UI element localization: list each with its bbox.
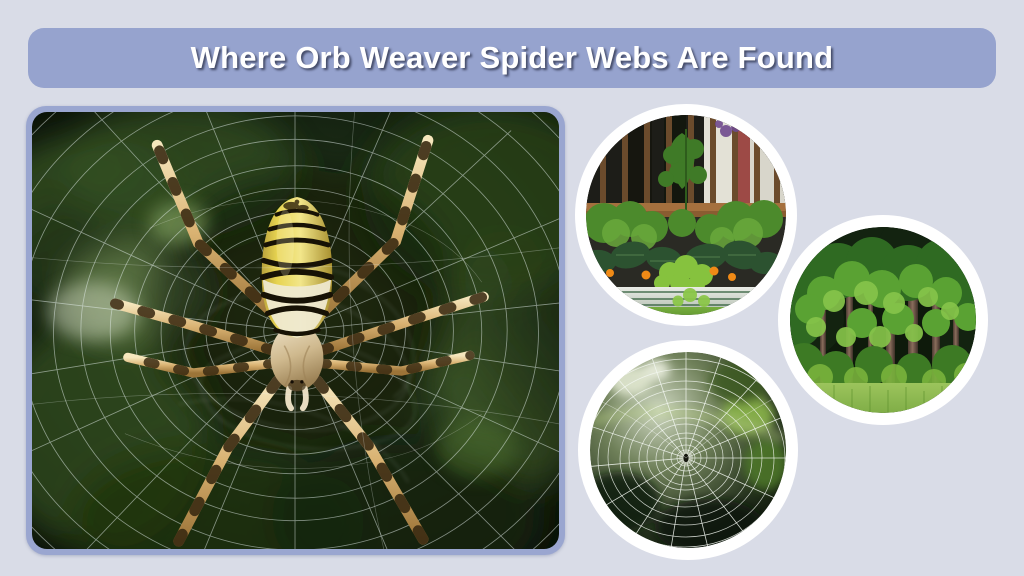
forest-habitat-photo: [778, 215, 988, 425]
orb-web-closeup-photo: [578, 340, 798, 560]
habitat-thumbnail-cluster: [575, 95, 1005, 575]
garden-habitat-illustration: [586, 115, 786, 315]
page-title: Where Orb Weaver Spider Webs Are Found: [191, 40, 834, 76]
garden-habitat-photo: [575, 104, 797, 326]
orb-weaver-spider-on-web-photo: [32, 112, 559, 549]
forest-habitat-illustration: [790, 227, 976, 413]
hero-photo-frame: [26, 106, 565, 555]
orb-web-closeup-illustration: [590, 352, 786, 548]
title-banner: Where Orb Weaver Spider Webs Are Found: [28, 28, 996, 88]
